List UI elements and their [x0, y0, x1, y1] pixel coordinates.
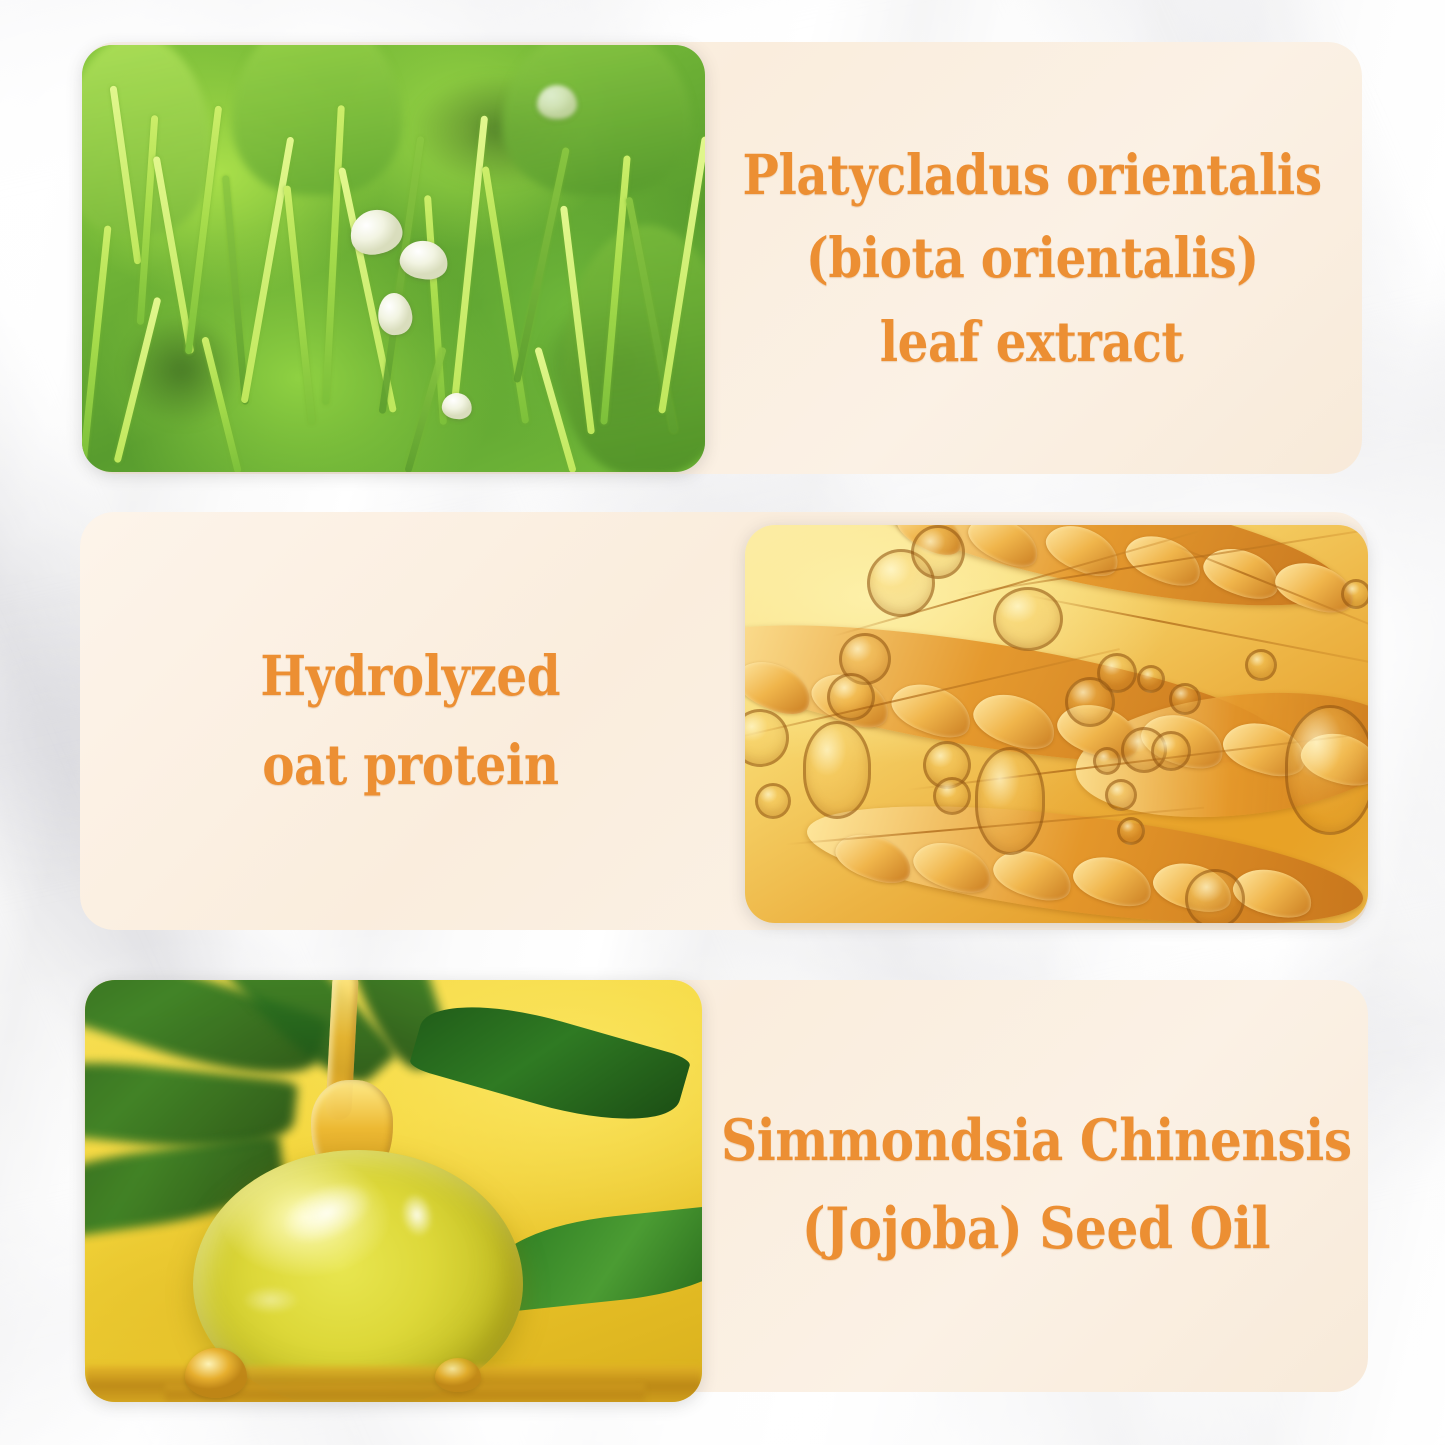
jojoba-olive-oil-photo	[85, 980, 702, 1402]
oat-protein-text-block: Hydrolyzed oat protein	[130, 600, 690, 840]
card3-line-2: (Jojoba) Seed Oil	[802, 1185, 1270, 1273]
platycladus-text-block: Platycladus orientalis (biota orientalis…	[712, 60, 1352, 456]
card2-line-2: oat protein	[262, 720, 558, 809]
jojoba-text-block: Simmondsia Chinensis (Jojoba) Seed Oil	[706, 1060, 1366, 1310]
card1-line-2: (biota orientalis)	[806, 216, 1259, 300]
card1-line-3: leaf extract	[880, 300, 1184, 384]
ingredient-infographic: Platycladus orientalis (biota orientalis…	[0, 0, 1445, 1445]
card3-line-1: Simmondsia Chinensis	[721, 1097, 1352, 1185]
oat-wheat-oil-photo	[745, 525, 1368, 923]
card1-line-1: Platycladus orientalis	[742, 133, 1321, 217]
platycladus-foliage-photo	[82, 45, 705, 472]
card2-line-1: Hydrolyzed	[260, 631, 560, 720]
